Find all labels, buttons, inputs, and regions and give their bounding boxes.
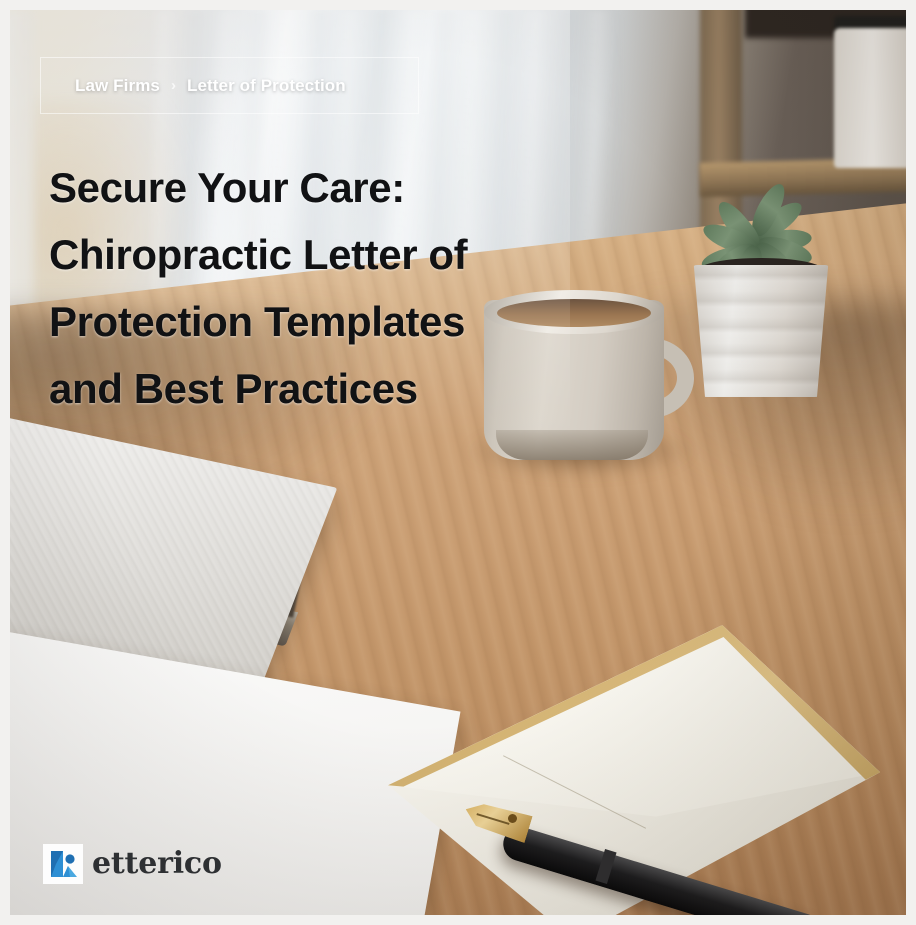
fountain-pen xyxy=(472,798,872,915)
brand-name: etterico xyxy=(92,849,222,879)
breadcrumb-item-current: Letter of Protection xyxy=(187,76,346,96)
page-title: Secure Your Care: Chiropractic Letter of… xyxy=(49,154,519,422)
chevron-right-icon: › xyxy=(171,78,176,93)
article-hero-card: Law Firms › Letter of Protection Secure … xyxy=(0,0,916,925)
pen-nib-vent-hole xyxy=(508,814,517,823)
etterico-logo-icon xyxy=(43,844,83,884)
mug-base xyxy=(496,430,648,460)
shelf-jar xyxy=(834,28,906,168)
coffee-liquid xyxy=(497,299,651,327)
breadcrumb: Law Firms › Letter of Protection xyxy=(40,57,419,114)
plant-pot-ribs xyxy=(691,265,831,397)
breadcrumb-item-law-firms[interactable]: Law Firms xyxy=(75,76,160,96)
pen-barrel xyxy=(499,823,825,915)
brand-logo[interactable]: etterico xyxy=(43,844,222,884)
hero-background-photo: Law Firms › Letter of Protection Secure … xyxy=(10,10,906,915)
